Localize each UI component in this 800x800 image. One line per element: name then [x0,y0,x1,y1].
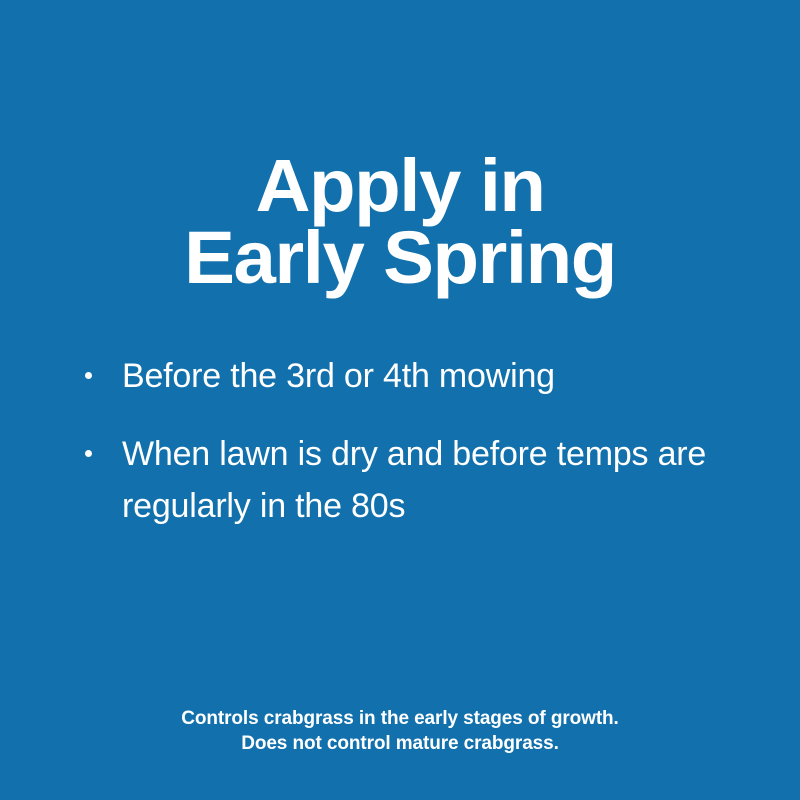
footer-note: Controls crabgrass in the early stages o… [0,706,800,756]
promo-card: Apply in Early Spring Before the 3rd or … [0,0,800,800]
list-item-label: When lawn is dry and before temps are re… [122,428,740,532]
footer-line-2: Does not control mature crabgrass. [0,731,800,756]
list-item: When lawn is dry and before temps are re… [78,428,740,532]
page-title: Apply in Early Spring [0,150,800,294]
headline-line-2: Early Spring [0,222,800,294]
list-item-label: Before the 3rd or 4th mowing [122,350,740,402]
dot-bullet-icon [85,450,92,457]
headline-line-1: Apply in [0,150,800,222]
list-item: Before the 3rd or 4th mowing [78,350,740,402]
dot-bullet-icon [85,372,92,379]
instruction-list: Before the 3rd or 4th mowing When lawn i… [78,350,740,532]
footer-line-1: Controls crabgrass in the early stages o… [0,706,800,731]
